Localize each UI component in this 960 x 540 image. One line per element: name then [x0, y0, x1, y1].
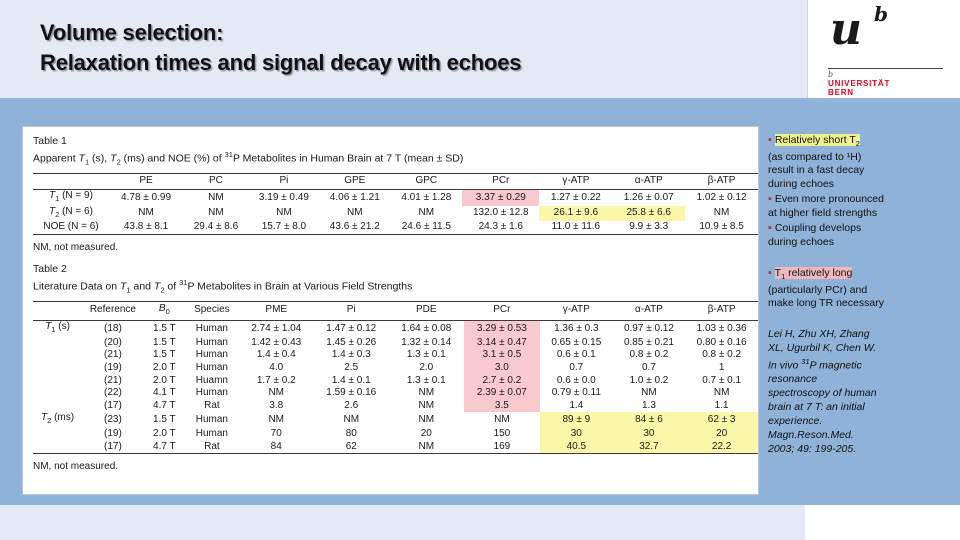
logo-divider-rule [828, 68, 943, 69]
table-2-cell: Human [185, 337, 239, 350]
citation-line: Lei H, Zhu XH, Zhang [768, 327, 958, 341]
citation-line: experience. [768, 414, 958, 428]
table-2-cell: 4.7 T [144, 400, 185, 413]
table-1-cell: 4.06 ± 1.21 [319, 190, 391, 206]
bullet-relatively-short-t2: ▪ Relatively short T2 (as compared to ¹H… [768, 134, 958, 191]
table-2-cell-highlighted: 30 [613, 428, 686, 441]
table-1-cell: 3.19 ± 0.49 [249, 190, 319, 206]
table-2-cell: Rat [185, 441, 239, 454]
bullet-line: ▪ T1 relatively long [768, 267, 958, 284]
citation-block: Lei H, Zhu XH, Zhang XL, Ugurbil K, Chen… [768, 327, 958, 457]
table-2-cell: 0.7 [540, 362, 613, 375]
table-2-cell: Human [185, 428, 239, 441]
table-1-block: Table 1 Apparent T1 (s), T2 (ms) and NOE… [33, 135, 758, 253]
table-2-col-reference: Reference [82, 301, 144, 321]
table-2-cell: NM [389, 400, 464, 413]
table-1-col-gamma-atp: γ-ATP [539, 173, 612, 190]
bullet-marker-icon: ▪ [768, 193, 772, 205]
table-2-block: Table 2 Literature Data on T1 and T2 of … [33, 263, 758, 472]
table-2-row-label-t2: T2 (ms) [33, 412, 82, 428]
table-row: T1 (N = 9) 4.78 ± 0.99 NM 3.19 ± 0.49 4.… [33, 190, 758, 206]
table-1-body: T1 (N = 9) 4.78 ± 0.99 NM 3.19 ± 0.49 4.… [33, 190, 758, 237]
table-1-col-pcr: PCr [462, 173, 539, 190]
sidebar-notes: ▪ Relatively short T2 (as compared to ¹H… [768, 134, 958, 456]
table-2-row-label-empty [33, 441, 82, 454]
table-2-col-blank [33, 301, 82, 321]
table-2-cell: 1.7 ± 0.2 [239, 375, 314, 388]
table-2-cell: (21) [82, 375, 144, 388]
table-row: (22)4.1 THumanNM1.59 ± 0.16NM2.39 ± 0.07… [33, 387, 758, 400]
table-2-cell: NM [239, 387, 314, 400]
table-2-cell: 0.7 ± 0.1 [685, 375, 758, 388]
table-1-bottom-rule-row [33, 234, 758, 237]
table-1-col-gpe: GPE [319, 173, 391, 190]
table-1-cell: NM [183, 206, 249, 222]
university-logo: u b b UNIVERSITÄT BERN [807, 0, 960, 98]
table-2-cell: 1.1 [685, 400, 758, 413]
table-1-cell: 24.6 ± 11.5 [391, 221, 463, 234]
table-1-cell: 24.3 ± 1.6 [462, 221, 539, 234]
title-line-2: Relaxation times and signal decay with e… [40, 48, 760, 78]
table-row: (20)1.5 THuman1.42 ± 0.431.45 ± 0.261.32… [33, 337, 758, 350]
table-2-cell-highlighted: 32.7 [613, 441, 686, 454]
table-2-body: T1 (s)(18)1.5 THuman2.74 ± 1.041.47 ± 0.… [33, 321, 758, 456]
table-2-cell: 1.64 ± 0.08 [389, 321, 464, 337]
table-2-cell: 1.5 T [144, 321, 185, 337]
table-2-cell: 1.4 ± 0.3 [314, 349, 389, 362]
table-1-cell: 15.7 ± 8.0 [249, 221, 319, 234]
table-2-cell-highlighted: 3.0 [464, 362, 540, 375]
table-2-bottom-rule-row [33, 454, 758, 457]
table-2-cell: 0.6 ± 0.1 [540, 349, 613, 362]
citation-text: P magnetic [810, 359, 862, 371]
table-2-cell: (18) [82, 321, 144, 337]
table-2-row-label-empty [33, 337, 82, 350]
table-2-cell: 1.4 ± 0.4 [239, 349, 314, 362]
table-2-cell: 1.5 T [144, 349, 185, 362]
table-1-footnote: NM, not measured. [33, 242, 758, 253]
slide-footer-band [0, 505, 960, 540]
bullet-line: make long TR necessary [768, 297, 958, 311]
table-2-cell: 4.0 [239, 362, 314, 375]
table-1-caption-subtitle: Apparent T1 (s), T2 (ms) and NOE (%) of … [33, 148, 758, 169]
table-1-col-pe: PE [109, 173, 183, 190]
table-2-row-label-empty [33, 375, 82, 388]
table-1-cell: 10.9 ± 8.5 [685, 221, 758, 234]
table-2-cell-highlighted: 40.5 [540, 441, 613, 454]
table-row: (21)1.5 THuman1.4 ± 0.41.4 ± 0.31.3 ± 0.… [33, 349, 758, 362]
table-1-bottom-rule [33, 234, 758, 237]
table-2-cell: (17) [82, 441, 144, 454]
bullet-marker-icon: ▪ [768, 222, 772, 234]
table-1-cell: NM [391, 206, 463, 222]
table-2-cell: NM [613, 387, 686, 400]
bullet-highlight-text: Relatively short T [775, 134, 856, 146]
table-2-row-label-empty [33, 387, 82, 400]
table-2-cell: 150 [464, 428, 540, 441]
table-2-cell: (21) [82, 349, 144, 362]
table-2-cell: Huamn [185, 375, 239, 388]
table-1-cell: 4.01 ± 1.28 [391, 190, 463, 206]
table-2-cell: 1.47 ± 0.12 [314, 321, 389, 337]
table-2-cell: Human [185, 412, 239, 428]
table-2-cell-highlighted: 84 ± 6 [613, 412, 686, 428]
table-2-cell: 1.3 ± 0.1 [389, 375, 464, 388]
table-1-cell: NM [249, 206, 319, 222]
table-row: (17)4.7 TRat3.82.6NM3.51.41.31.1 [33, 400, 758, 413]
table-2-col-beta-atp: β-ATP [685, 301, 758, 321]
table-row: NOE (N = 6) 43.8 ± 8.1 29.4 ± 8.6 15.7 ±… [33, 221, 758, 234]
bullet-line: result in a fast decay [768, 164, 958, 178]
table-2-cell: 0.80 ± 0.16 [685, 337, 758, 350]
bullet-highlight-text-2: relatively long [785, 267, 852, 279]
table-2-cell: 1.36 ± 0.3 [540, 321, 613, 337]
table-2-cell-highlighted: 30 [540, 428, 613, 441]
table-2-footnote: NM, not measured. [33, 461, 758, 472]
table-2-cell: Human [185, 349, 239, 362]
table-1: PE PC Pi GPE GPC PCr γ-ATP α-ATP β-ATP T… [33, 173, 758, 237]
table-2-row-label-empty [33, 362, 82, 375]
bullet-line: at higher field strengths [768, 207, 958, 221]
bullet-line: ▪ Coupling develops [768, 222, 958, 236]
table-1-cell: 132.0 ± 12.8 [462, 206, 539, 222]
table-2-cell: 0.6 ± 0.0 [540, 375, 613, 388]
table-2-cell: 3.8 [239, 400, 314, 413]
table-row: T1 (s)(18)1.5 THuman2.74 ± 1.041.47 ± 0.… [33, 321, 758, 337]
table-2-cell: Human [185, 321, 239, 337]
bullet-marker-icon: ▪ [768, 134, 772, 146]
table-1-cell-highlighted: 26.1 ± 9.6 [539, 206, 612, 222]
bullet-t1-relatively-long: ▪ T1 relatively long (particularly PCr) … [768, 267, 958, 311]
table-2-cell: 2.0 T [144, 362, 185, 375]
table-2-cell: 4.1 T [144, 387, 185, 400]
table-2-cell: 1.59 ± 0.16 [314, 387, 389, 400]
table-2-cell: NM [685, 387, 758, 400]
table-2-cell: Human [185, 362, 239, 375]
slide-header-band: Volume selection: Relaxation times and s… [0, 0, 960, 101]
bullet-line: during echoes [768, 178, 958, 192]
table-2-cell: 80 [314, 428, 389, 441]
table-1-col-gpc: GPC [391, 173, 463, 190]
citation-line: Magn.Reson.Med. [768, 428, 958, 442]
table-2-cell-highlighted: 22.2 [685, 441, 758, 454]
table-2-cell: 2.74 ± 1.04 [239, 321, 314, 337]
table-2-row-label-empty [33, 349, 82, 362]
table-2-col-pme: PME [239, 301, 314, 321]
table-2-cell: (17) [82, 400, 144, 413]
table-2-cell: (20) [82, 337, 144, 350]
table-2-cell: 0.85 ± 0.21 [613, 337, 686, 350]
table-2-cell: 2.0 T [144, 428, 185, 441]
bullet-highlighted-phrase: T1 relatively long [775, 267, 853, 279]
slide-footer-inner [0, 505, 805, 540]
citation-text: In vivo [768, 359, 801, 371]
table-2-cell: (19) [82, 362, 144, 375]
bullet-marker-icon: ▪ [768, 267, 772, 279]
table-2-col-gamma-atp: γ-ATP [540, 301, 613, 321]
table-1-col-alpha-atp: α-ATP [612, 173, 685, 190]
citation-superscript: 31 [801, 357, 809, 366]
table-2-cell: NM [389, 412, 464, 428]
title-line-1: Volume selection: [40, 18, 760, 48]
table-1-col-beta-atp: β-ATP [685, 173, 758, 190]
table-2-cell-highlighted: 62 ± 3 [685, 412, 758, 428]
table-2-cell: 1.32 ± 0.14 [389, 337, 464, 350]
table-2-cell: 1.5 T [144, 412, 185, 428]
table-2-col-pde: PDE [389, 301, 464, 321]
table-2-row-label-empty [33, 400, 82, 413]
table-2-cell: 0.79 ± 0.11 [540, 387, 613, 400]
table-1-cell: 1.02 ± 0.12 [685, 190, 758, 206]
table-1-cell: 43.6 ± 21.2 [319, 221, 391, 234]
table-row: (21)2.0 THuamn1.7 ± 0.21.4 ± 0.11.3 ± 0.… [33, 375, 758, 388]
table-2-cell: 1.3 ± 0.1 [389, 349, 464, 362]
bullet-line: (as compared to ¹H) [768, 151, 958, 165]
table-2-cell-highlighted: 3.5 [464, 400, 540, 413]
logo-small-b-glyph: b [828, 70, 833, 79]
logo-wordmark: UNIVERSITÄT BERN [828, 79, 890, 97]
logo-wordmark-line-1: UNIVERSITÄT [828, 79, 890, 88]
table-2-cell: 62 [314, 441, 389, 454]
table-2-row-label-empty [33, 428, 82, 441]
table-1-cell: NM [109, 206, 183, 222]
table-2-cell-highlighted: 3.1 ± 0.5 [464, 349, 540, 362]
table-2-cell: 0.7 [613, 362, 686, 375]
table-2-cell: 1 [685, 362, 758, 375]
table-2-cell-highlighted: 89 ± 9 [540, 412, 613, 428]
table-1-col-blank [33, 173, 109, 190]
logo-b-superscript-glyph: b [874, 4, 888, 24]
table-2-col-alpha-atp: α-ATP [613, 301, 686, 321]
table-2-cell: 1.5 T [144, 337, 185, 350]
table-1-cell-highlighted: 3.37 ± 0.29 [462, 190, 539, 206]
table-2-cell-highlighted: 3.29 ± 0.53 [464, 321, 540, 337]
table-row: T2 (ms)(23)1.5 THumanNMNMNMNM89 ± 984 ± … [33, 412, 758, 428]
table-1-cell: 1.27 ± 0.22 [539, 190, 612, 206]
table-row: (19)2.0 THuman708020150303020 [33, 428, 758, 441]
table-2-cell: (19) [82, 428, 144, 441]
table-2-caption-subtitle: Literature Data on T1 and T2 of 31P Meta… [33, 276, 758, 297]
logo-wordmark-line-2: BERN [828, 88, 890, 97]
table-2-caption-title: Table 2 [33, 263, 758, 276]
slide-title: Volume selection: Relaxation times and s… [40, 18, 760, 78]
table-2-cell: (22) [82, 387, 144, 400]
table-2-row-label-t1: T1 (s) [33, 321, 82, 337]
table-2-cell: 0.8 ± 0.2 [613, 349, 686, 362]
table-row: (19)2.0 THuman4.02.52.03.00.70.71 [33, 362, 758, 375]
table-2-cell: 1.42 ± 0.43 [239, 337, 314, 350]
table-2-cell-highlighted: 2.7 ± 0.2 [464, 375, 540, 388]
table-2-cell: NM [314, 412, 389, 428]
table-1-row-label-t2: T2 (N = 6) [33, 206, 109, 222]
table-2-cell: (23) [82, 412, 144, 428]
table-2-cell: 1.3 [613, 400, 686, 413]
table-2-cell: Human [185, 387, 239, 400]
table-1-row-label-noe: NOE (N = 6) [33, 221, 109, 234]
bullet-even-more-pronounced: ▪ Even more pronounced at higher field s… [768, 193, 958, 220]
bullet-line: during echoes [768, 236, 958, 250]
table-2-cell: 0.97 ± 0.12 [613, 321, 686, 337]
table-1-cell: 29.4 ± 8.6 [183, 221, 249, 234]
table-1-caption-title: Table 1 [33, 135, 758, 148]
table-2-cell-highlighted: 3.14 ± 0.47 [464, 337, 540, 350]
table-1-col-pc: PC [183, 173, 249, 190]
table-1-cell: 4.78 ± 0.99 [109, 190, 183, 206]
bullet-text: Coupling develops [775, 222, 861, 234]
slide-root: Volume selection: Relaxation times and s… [0, 0, 960, 540]
table-2-col-species: Species [185, 301, 239, 321]
table-2-header-row: Reference B0 Species PME Pi PDE PCr γ-AT… [33, 301, 758, 321]
citation-line: brain at 7 T: an initial [768, 400, 958, 414]
table-1-cell: NM [183, 190, 249, 206]
bullet-line: ▪ Even more pronounced [768, 193, 958, 207]
table-2-cell: 2.5 [314, 362, 389, 375]
table-1-cell: NM [319, 206, 391, 222]
citation-line: 2003; 49: 199-205. [768, 442, 958, 456]
table-2-cell: NM [464, 412, 540, 428]
table-2-col-b0: B0 [144, 301, 185, 321]
table-2-cell: Rat [185, 400, 239, 413]
table-2-cell: 2.0 [389, 362, 464, 375]
table-1-cell: 11.0 ± 11.6 [539, 221, 612, 234]
table-2-cell: 70 [239, 428, 314, 441]
table-1-cell: 1.26 ± 0.07 [612, 190, 685, 206]
citation-line: XL, Ugurbil K, Chen W. [768, 341, 958, 355]
bullet-highlighted-phrase: Relatively short T2 [775, 134, 860, 146]
table-2-cell: 1.03 ± 0.36 [685, 321, 758, 337]
table-2-col-pcr: PCr [464, 301, 540, 321]
table-2-cell: 4.7 T [144, 441, 185, 454]
table-1-header-row: PE PC Pi GPE GPC PCr γ-ATP α-ATP β-ATP [33, 173, 758, 190]
table-2-cell: 1.45 ± 0.26 [314, 337, 389, 350]
table-2-cell: 20 [389, 428, 464, 441]
table-2-bottom-rule [33, 454, 758, 457]
citation-line: resonance [768, 372, 958, 386]
tables-image-panel: Table 1 Apparent T1 (s), T2 (ms) and NOE… [22, 126, 759, 495]
table-2-cell: NM [239, 412, 314, 428]
citation-line: In vivo 31P magnetic [768, 355, 958, 373]
table-2-col-pi: Pi [314, 301, 389, 321]
table-2-cell: 2.0 T [144, 375, 185, 388]
table-1-cell: 9.9 ± 3.3 [612, 221, 685, 234]
table-2-cell: 2.6 [314, 400, 389, 413]
citation-line: spectroscopy of human [768, 386, 958, 400]
table-row: (17)4.7 TRat8462NM16940.532.722.2 [33, 441, 758, 454]
table-2-cell: NM [389, 441, 464, 454]
table-2-cell: 1.4 ± 0.1 [314, 375, 389, 388]
table-1-cell-highlighted: 25.8 ± 6.6 [612, 206, 685, 222]
bullet-text: Even more pronounced [775, 193, 884, 205]
table-1-cell: NM [685, 206, 758, 222]
table-1-col-pi: Pi [249, 173, 319, 190]
bullet-line: ▪ Relatively short T2 [768, 134, 958, 151]
bullet-line: (particularly PCr) and [768, 284, 958, 298]
table-2-cell-highlighted: 2.39 ± 0.07 [464, 387, 540, 400]
table-2-cell: 84 [239, 441, 314, 454]
table-2-cell: 1.4 [540, 400, 613, 413]
table-2-cell-highlighted: 20 [685, 428, 758, 441]
table-2-cell: 0.8 ± 0.2 [685, 349, 758, 362]
table-2: Reference B0 Species PME Pi PDE PCr γ-AT… [33, 301, 758, 457]
logo-u-glyph: u [830, 8, 862, 52]
table-2-cell: 169 [464, 441, 540, 454]
table-2-cell: 1.0 ± 0.2 [613, 375, 686, 388]
bullet-coupling-develops: ▪ Coupling develops during echoes [768, 222, 958, 249]
table-1-row-label-t1: T1 (N = 9) [33, 190, 109, 206]
bullet-highlight-subscript: 2 [856, 139, 860, 148]
table-2-cell: NM [389, 387, 464, 400]
table-row: T2 (N = 6) NM NM NM NM NM 132.0 ± 12.8 2… [33, 206, 758, 222]
table-1-cell: 43.8 ± 8.1 [109, 221, 183, 234]
table-2-cell: 0.65 ± 0.15 [540, 337, 613, 350]
